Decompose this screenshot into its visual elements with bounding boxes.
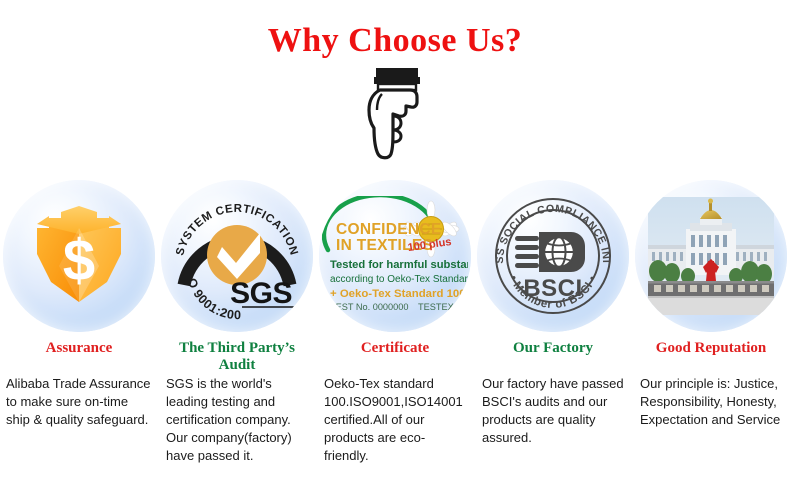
oeko-line-6-right: TESTEX Zürich <box>418 302 468 312</box>
page-title: Why Choose Us? <box>0 0 790 58</box>
oeko-line-1: CONFIDENCE <box>336 221 441 238</box>
pointing-hand-container <box>0 64 790 160</box>
circle-backdrop-factory <box>635 180 787 332</box>
oeko-line-5: + Oeko-Tex Standard 1000 <box>330 288 468 300</box>
badge-cell-bsci[interactable]: BUSINESS SOCIAL COMPLIANCE INITIATIVE • … <box>474 180 632 340</box>
badge-cell-oeko-tex[interactable]: CONFIDENCE IN TEXTILES 100 plus Tested f… <box>316 180 474 340</box>
oeko-line-3: Tested for harmful substances <box>330 259 468 271</box>
heading-third-party-audit: The Third Party’s Audit <box>158 340 316 374</box>
badge-row: $ SYSTEM CERTIFICATION ISO 9001:2000 <box>0 180 790 340</box>
heading-row: Assurance The Third Party’s Audit Certif… <box>0 340 790 374</box>
heading-our-factory: Our Factory <box>474 340 632 374</box>
dollar-sign-glyph: $ <box>63 228 95 293</box>
body-certificate: Oeko-Tex standard 100.ISO9001,ISO14001 c… <box>316 375 474 465</box>
body-good-reputation: Our principle is: Justice, Responsibilit… <box>632 375 790 465</box>
oeko-line-6-left: TEST No. 0000000 <box>330 302 408 312</box>
oeko-line-4: according to Oeko-Tex Standard 100 <box>330 274 468 285</box>
badge-cell-sgs[interactable]: SYSTEM CERTIFICATION ISO 9001:2000 SGS <box>158 180 316 340</box>
alibaba-trade-assurance-shield-icon: $ <box>29 204 129 308</box>
badge-cell-assurance[interactable]: $ <box>0 180 158 340</box>
bsci-wordmark: BSCI <box>523 275 582 302</box>
heading-assurance: Assurance <box>0 340 158 374</box>
pointing-hand-down-icon <box>356 64 434 160</box>
factory-building-photo <box>648 197 774 315</box>
bsci-member-badge-icon: BUSINESS SOCIAL COMPLIANCE INITIATIVE • … <box>489 192 617 320</box>
oeko-tex-confidence-in-textiles-icon: CONFIDENCE IN TEXTILES 100 plus Tested f… <box>322 196 468 316</box>
badge-cell-factory-photo[interactable] <box>632 180 790 340</box>
body-assurance: Alibaba Trade Assurance to make sure on-… <box>0 375 158 465</box>
circle-backdrop-assurance: $ <box>3 180 155 332</box>
sgs-wordmark: SGS <box>230 277 292 310</box>
circle-backdrop-bsci: BUSINESS SOCIAL COMPLIANCE INITIATIVE • … <box>477 180 629 332</box>
circle-backdrop-sgs: SYSTEM CERTIFICATION ISO 9001:2000 SGS <box>161 180 313 332</box>
circle-backdrop-oeko-tex: CONFIDENCE IN TEXTILES 100 plus Tested f… <box>319 180 471 332</box>
hand-globe-icon <box>515 232 585 272</box>
heading-good-reputation: Good Reputation <box>632 340 790 374</box>
sgs-iso9001-certification-icon: SYSTEM CERTIFICATION ISO 9001:2000 SGS <box>170 189 304 323</box>
heading-certificate: Certificate <box>316 340 474 374</box>
body-row: Alibaba Trade Assurance to make sure on-… <box>0 375 790 465</box>
body-third-party-audit: SGS is the world's leading testing and c… <box>158 375 316 465</box>
body-our-factory: Our factory have passed BSCI's audits an… <box>474 375 632 465</box>
